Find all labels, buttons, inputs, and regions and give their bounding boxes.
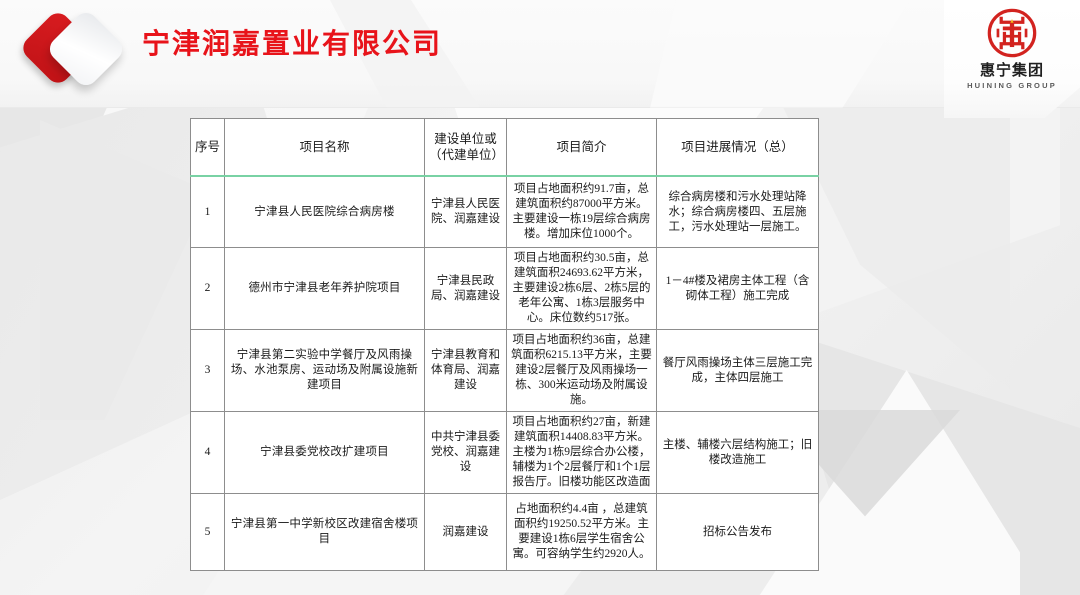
column-header-project-name: 项目名称 xyxy=(225,119,425,177)
slide-canvas: 宁津润嘉置业有限公司 惠宁集团 HUINING GROUP 序号 xyxy=(0,0,1080,595)
column-header-project-brief: 项目简介 xyxy=(507,119,657,177)
cell-name: 德州市宁津县老年养护院项目 xyxy=(225,248,425,330)
cell-index: 1 xyxy=(191,176,225,248)
column-header-unit-line1: 建设单位或 xyxy=(434,132,497,146)
table-body: 1 宁津县人民医院综合病房楼 宁津县人民医院、润嘉建设 项目占地面积约91.7亩… xyxy=(191,176,819,571)
brand-panel: 惠宁集团 HUINING GROUP xyxy=(944,0,1080,118)
page-title: 宁津润嘉置业有限公司 xyxy=(142,24,442,64)
red-diamond-logo xyxy=(24,6,130,92)
cell-unit: 宁津县教育和体育局、润嘉建设 xyxy=(425,330,507,412)
cell-progress: 综合病房楼和污水处理站降水；综合病房楼四、五层施工，污水处理站一层施工。 xyxy=(657,176,819,248)
column-header-unit-line2: （代建单位） xyxy=(429,148,504,162)
cell-progress: 招标公告发布 xyxy=(657,494,819,571)
column-header-index: 序号 xyxy=(191,119,225,177)
cell-progress: 主楼、辅楼六层结构施工；旧楼改造施工 xyxy=(657,412,819,494)
cell-unit: 润嘉建设 xyxy=(425,494,507,571)
cell-unit: 宁津县人民医院、润嘉建设 xyxy=(425,176,507,248)
cell-progress: 餐厅风雨操场主体三层施工完成，主体四层施工 xyxy=(657,330,819,412)
brand-name-cn: 惠宁集团 xyxy=(980,62,1044,80)
huining-emblem-icon xyxy=(985,6,1039,60)
cell-index: 3 xyxy=(191,330,225,412)
cell-unit: 中共宁津县委党校、润嘉建设 xyxy=(425,412,507,494)
cell-brief: 占地面积约4.4亩 ，总建筑面积约19250.52平方米。主要建设1栋6层学生宿… xyxy=(507,494,657,571)
cell-index: 2 xyxy=(191,248,225,330)
cell-index: 5 xyxy=(191,494,225,571)
table-row: 5 宁津县第一中学新校区改建宿舍楼项目 润嘉建设 占地面积约4.4亩 ，总建筑面… xyxy=(191,494,819,571)
column-header-construction-unit: 建设单位或 （代建单位） xyxy=(425,119,507,177)
table-row: 2 德州市宁津县老年养护院项目 宁津县民政局、润嘉建设 项目占地面积约30.5亩… xyxy=(191,248,819,330)
cell-name: 宁津县委党校改扩建项目 xyxy=(225,412,425,494)
cell-brief: 项目占地面积约27亩，新建建筑面积14408.83平方米。主楼为1栋9层综合办公… xyxy=(507,412,657,494)
table-header: 序号 项目名称 建设单位或 （代建单位） 项目简介 项目进展情况（总） xyxy=(191,119,819,177)
projects-table: 序号 项目名称 建设单位或 （代建单位） 项目简介 项目进展情况（总） 1 宁津… xyxy=(190,118,819,571)
cell-brief: 项目占地面积约30.5亩，总建筑面积24693.62平方米，主要建设2栋6层、2… xyxy=(507,248,657,330)
cell-name: 宁津县第二实验中学餐厅及风雨操场、水池泵房、运动场及附属设施新建项目 xyxy=(225,330,425,412)
cell-brief: 项目占地面积约36亩，总建筑面积6215.13平方米，主要建设2层餐厅及风雨操场… xyxy=(507,330,657,412)
column-header-progress: 项目进展情况（总） xyxy=(657,119,819,177)
cell-index: 4 xyxy=(191,412,225,494)
table-row: 1 宁津县人民医院综合病房楼 宁津县人民医院、润嘉建设 项目占地面积约91.7亩… xyxy=(191,176,819,248)
table-row: 4 宁津县委党校改扩建项目 中共宁津县委党校、润嘉建设 项目占地面积约27亩，新… xyxy=(191,412,819,494)
brand-name-en: HUINING GROUP xyxy=(967,80,1057,91)
cell-name: 宁津县人民医院综合病房楼 xyxy=(225,176,425,248)
cell-progress: 1－4#楼及裙房主体工程（含砌体工程）施工完成 xyxy=(657,248,819,330)
cell-unit: 宁津县民政局、润嘉建设 xyxy=(425,248,507,330)
table-header-row: 序号 项目名称 建设单位或 （代建单位） 项目简介 项目进展情况（总） xyxy=(191,119,819,177)
projects-table-wrapper: 序号 项目名称 建设单位或 （代建单位） 项目简介 项目进展情况（总） 1 宁津… xyxy=(190,118,818,571)
cell-name: 宁津县第一中学新校区改建宿舍楼项目 xyxy=(225,494,425,571)
table-row: 3 宁津县第二实验中学餐厅及风雨操场、水池泵房、运动场及附属设施新建项目 宁津县… xyxy=(191,330,819,412)
cell-brief: 项目占地面积约91.7亩，总建筑面积约87000平方米。主要建设一栋19层综合病… xyxy=(507,176,657,248)
